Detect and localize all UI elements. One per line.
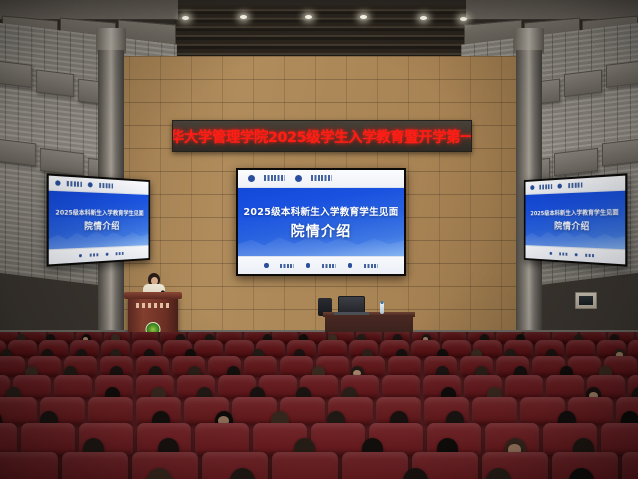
slide-subtitle: 院情介绍 — [84, 219, 120, 232]
school-logo — [295, 175, 302, 182]
auditorium-photo: 西华大学管理学院2025级学生入学教育暨开学第一课 2025级本科新生入学教育学… — [0, 0, 638, 479]
laptop-screen[interactable] — [338, 296, 365, 313]
downlight — [360, 15, 367, 19]
audience-seat — [21, 423, 75, 455]
slide-title: 2025级本科新生入学教育学生见面 — [530, 207, 618, 217]
event-banner-text: 西华大学管理学院2025级学生入学教育暨开学第一课 — [172, 126, 472, 147]
wall-mounted-av-panel[interactable] — [575, 292, 597, 309]
downlight — [182, 16, 189, 20]
wall-block — [36, 69, 74, 97]
slide: 2025级本科新生入学教育学生见面 院情介绍 — [238, 170, 404, 274]
audience-seat — [505, 375, 543, 399]
slide-subtitle: 院情介绍 — [291, 221, 352, 241]
wall-block — [564, 69, 602, 97]
footer-logo-1-text — [280, 264, 294, 268]
slide-body: 2025级本科新生入学教育学生见面 院情介绍 — [49, 191, 149, 250]
event-banner: 西华大学管理学院2025级学生入学教育暨开学第一课 — [172, 120, 472, 152]
audience-seat — [62, 452, 128, 479]
audience-seating — [0, 332, 638, 479]
slide-header — [238, 170, 404, 188]
wall-block — [0, 60, 32, 88]
footer-logo-3-icon — [348, 263, 353, 268]
university-crest-logo — [248, 175, 255, 182]
audience-seat — [0, 356, 25, 377]
audience-seat — [0, 452, 58, 479]
downlight — [420, 16, 427, 20]
downlight — [305, 15, 312, 19]
footer-logo-3-text — [115, 252, 124, 255]
audience-seat — [342, 452, 408, 479]
podium-nameplate — [136, 303, 170, 308]
footer-logo-3-text — [585, 254, 595, 258]
audience-seat — [601, 423, 638, 455]
audience-seat — [280, 356, 313, 377]
audience-seat — [382, 375, 420, 399]
school-name-logo — [568, 183, 582, 188]
university-name-logo — [67, 181, 82, 187]
footer-logo-3-icon — [106, 253, 109, 256]
wall-block — [0, 138, 36, 166]
footer-logo-1-icon — [79, 254, 82, 257]
audience-seat — [472, 397, 517, 425]
footer-logo-2-icon — [306, 263, 311, 268]
footer-logo-1-text — [559, 252, 568, 255]
downlight — [240, 15, 247, 19]
university-crest-logo — [56, 180, 61, 186]
university-name-logo — [540, 184, 553, 189]
audience-seat — [622, 452, 638, 479]
footer-logo-3-text — [364, 264, 378, 268]
slide-title: 2025级本科新生入学教育学生见面 — [55, 207, 143, 217]
footer-logo-3-icon — [575, 253, 578, 256]
left-side-display[interactable]: 2025级本科新生入学教育学生见面 院情介绍 — [47, 173, 151, 266]
footer-logo-1-text — [89, 253, 99, 257]
slide-title: 2025级本科新生入学教育学生见面 — [243, 204, 398, 218]
water-bottle — [380, 303, 384, 314]
slide-body: 2025级本科新生入学教育学生见面 院情介绍 — [525, 191, 625, 250]
main-stage-display[interactable]: 2025级本科新生入学教育学生见面 院情介绍 — [236, 168, 406, 276]
audience-seat — [88, 397, 133, 425]
slide-subtitle: 院情介绍 — [554, 219, 590, 232]
university-crest-logo — [531, 185, 535, 190]
audience-seat — [54, 375, 92, 399]
school-logo — [88, 182, 93, 187]
university-name-logo — [264, 175, 285, 181]
audience-seat — [546, 375, 584, 399]
audience-seat — [195, 423, 249, 455]
audience-seat — [244, 356, 277, 377]
wall-block — [606, 60, 638, 88]
footer-logo-2-text — [322, 264, 336, 268]
slide-body: 2025级本科新生入学教育学生见面 院情介绍 — [238, 188, 404, 257]
audience-seat — [311, 423, 365, 455]
downlight — [460, 17, 467, 21]
audience-seat — [272, 452, 338, 479]
school-name-logo — [311, 175, 332, 181]
podium-top — [124, 292, 182, 299]
school-logo — [558, 183, 562, 188]
footer-logo-1-icon — [264, 263, 269, 268]
wall-block — [602, 138, 638, 166]
audience-seat — [388, 356, 421, 377]
audience-seat — [0, 423, 17, 455]
school-name-logo — [99, 183, 113, 188]
footer-logo-1-icon — [550, 252, 553, 255]
slide: 2025级本科新生入学教育学生见面 院情介绍 — [49, 176, 149, 265]
right-side-display[interactable]: 2025级本科新生入学教育学生见面 院情介绍 — [524, 173, 628, 266]
slide: 2025级本科新生入学教育学生见面 院情介绍 — [525, 176, 625, 265]
audience-seat — [0, 397, 37, 425]
slide-footer — [238, 256, 404, 274]
